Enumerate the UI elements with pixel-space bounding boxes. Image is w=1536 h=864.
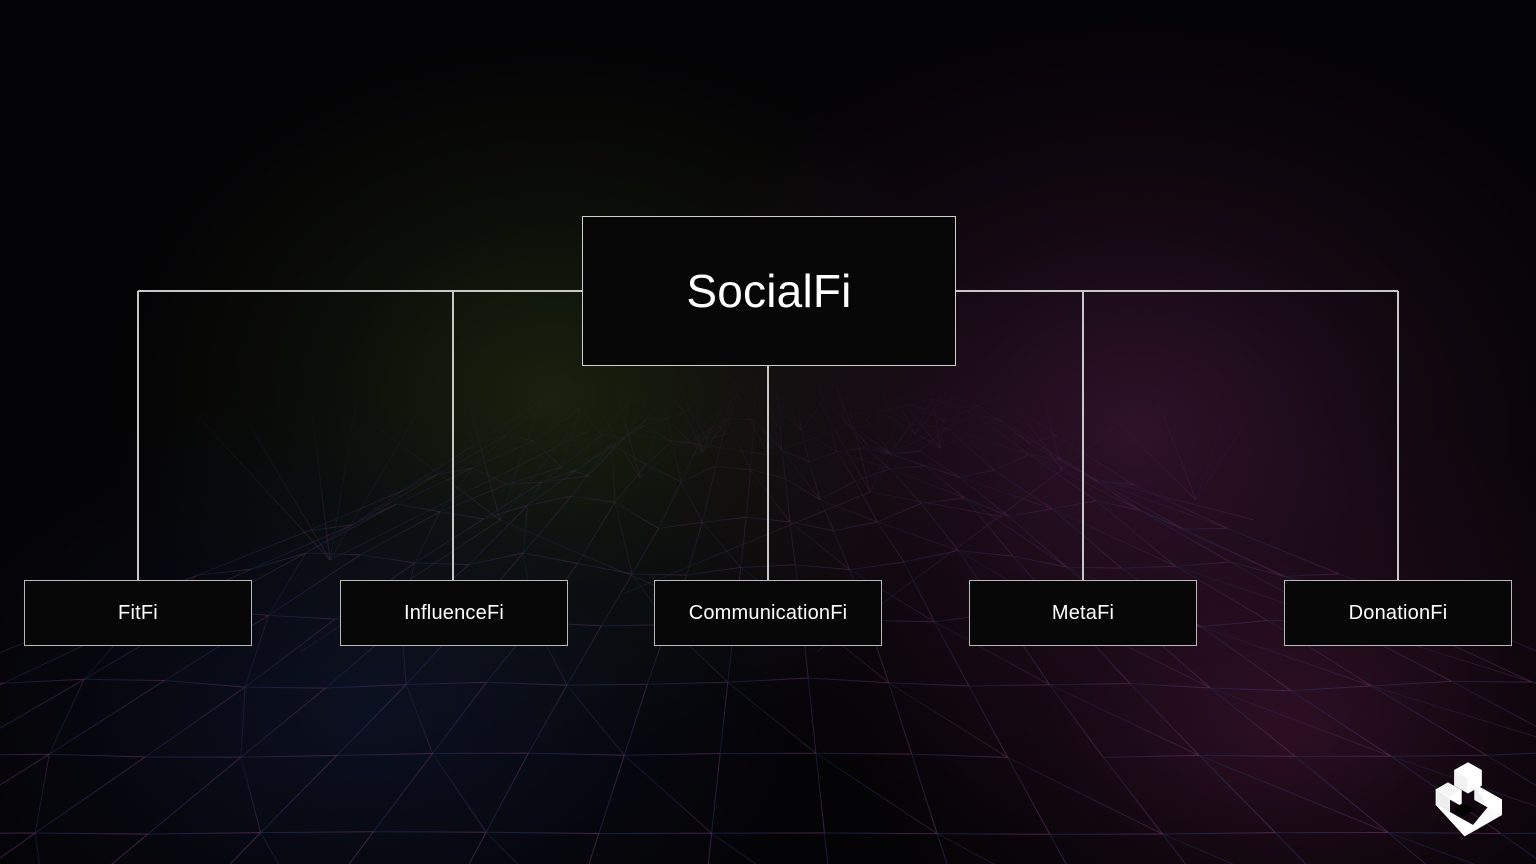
node-child[interactable]: MetaFi [969, 580, 1197, 646]
diagram-canvas: SocialFi FitFiInfluenceFiCommunicationFi… [0, 0, 1536, 864]
background-glow-blue [0, 0, 1536, 864]
node-root[interactable]: SocialFi [582, 216, 956, 366]
background-glow-purple [0, 0, 1536, 864]
node-child-label: FitFi [118, 602, 158, 625]
node-child[interactable]: CommunicationFi [654, 580, 882, 646]
background-glow-green [0, 0, 1536, 864]
node-child[interactable]: DonationFi [1284, 580, 1512, 646]
isometric-cube-logo [1426, 756, 1510, 840]
node-child[interactable]: FitFi [24, 580, 252, 646]
node-child-label: MetaFi [1052, 602, 1114, 625]
node-child[interactable]: InfluenceFi [340, 580, 568, 646]
node-child-label: DonationFi [1349, 602, 1448, 625]
node-root-label: SocialFi [686, 264, 851, 318]
background-glow-magenta [0, 0, 1536, 864]
background-base [0, 0, 1536, 864]
connector-lines [0, 0, 1536, 864]
wireframe-terrain-mesh [0, 0, 1536, 864]
node-child-label: CommunicationFi [689, 602, 848, 625]
node-child-label: InfluenceFi [404, 602, 504, 625]
